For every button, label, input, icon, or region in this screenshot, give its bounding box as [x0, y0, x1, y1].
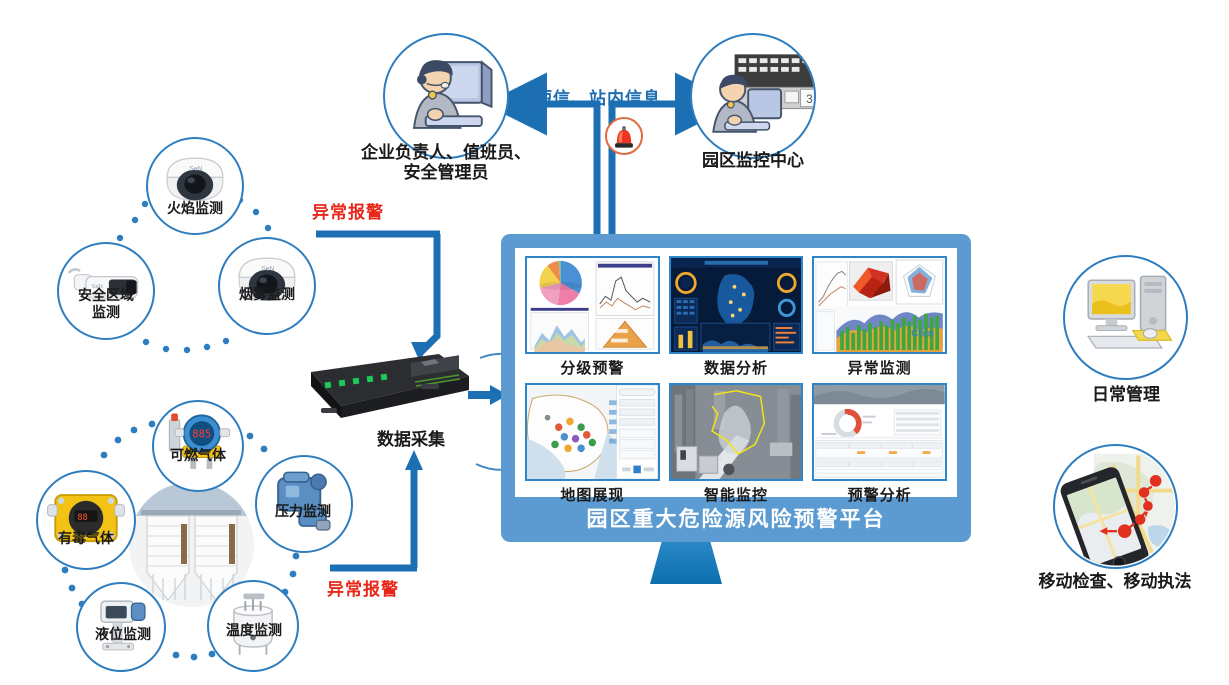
- dark-blue-map-dashboard: [669, 256, 804, 354]
- platform-screen: 分级预警: [515, 248, 957, 497]
- combustible-gas-detector-icon: 885: [154, 402, 242, 490]
- svg-text:885: 885: [192, 428, 211, 440]
- svg-text:SeN: SeN: [189, 166, 202, 173]
- thumb-caption-anomaly-monitoring: 异常监测: [848, 354, 912, 382]
- svg-text:3: 3: [806, 93, 812, 106]
- thumb-cell-map-display[interactable]: 地图展现: [525, 383, 660, 509]
- dome-camera-icon: SeN: [148, 139, 242, 233]
- surface-radar-dashboard: Chin: [812, 256, 947, 354]
- china-map-console: [525, 383, 660, 481]
- node-temperature-monitor[interactable]: [207, 580, 299, 672]
- dome-camera-icon: SeN: [220, 239, 314, 333]
- thumb-caption-data-analysis: 数据分析: [704, 354, 768, 382]
- level-meter-icon: [78, 584, 164, 670]
- diagram-canvas: 企业负责人、值班员、 安全管理员 3: [0, 0, 1229, 685]
- bullet-camera-icon: SeN: [59, 244, 153, 338]
- arrow-to-managers: [540, 104, 597, 240]
- svg-text:Chin: Chin: [911, 329, 934, 340]
- control-room-icon: 3: [692, 35, 814, 157]
- alarm-label-sensors: 异常报警: [327, 575, 399, 600]
- channel-label: 短信、站内信息: [535, 84, 661, 109]
- node-mobile-inspection[interactable]: [1053, 444, 1178, 569]
- node-daily-management[interactable]: [1063, 255, 1188, 380]
- node-managers[interactable]: [383, 33, 509, 159]
- alarm-beacon-icon: [605, 117, 643, 155]
- thumb-cell-smart-monitoring[interactable]: 智能监控: [669, 383, 804, 509]
- operator-at-desk-icon: [385, 35, 507, 157]
- platform-monitor: 分级预警: [501, 234, 971, 542]
- mobile-map-phone-icon: [1055, 446, 1176, 567]
- report-table-dashboard: [812, 383, 947, 481]
- alarm-label-cameras: 异常报警: [312, 198, 384, 223]
- platform-thumbnail-grid: 分级预警: [525, 256, 947, 509]
- thumb-cell-warning-analysis[interactable]: 预警分析: [812, 383, 947, 509]
- monitor-stand: [650, 542, 722, 584]
- thumb-cell-graded-warning[interactable]: 分级预警: [525, 256, 660, 382]
- thumb-caption-graded-warning: 分级预警: [560, 354, 624, 382]
- thumb-cell-data-analysis[interactable]: 数据分析: [669, 256, 804, 382]
- gateway-ring: [330, 352, 510, 472]
- toxic-gas-detector-icon: 88: [38, 472, 134, 568]
- node-level-monitor[interactable]: [76, 582, 166, 672]
- node-toxic-gas[interactable]: 88: [36, 470, 136, 570]
- video-ai-detection: [669, 383, 804, 481]
- node-flame-detection[interactable]: SeN: [146, 137, 244, 235]
- bi-charts-dashboard: [525, 256, 660, 354]
- svg-text:88: 88: [77, 513, 87, 523]
- node-smoke-detection[interactable]: SeN: [218, 237, 316, 335]
- temperature-sensor-icon: [209, 582, 297, 670]
- node-control-center[interactable]: 3: [690, 33, 816, 159]
- svg-text:SeN: SeN: [92, 284, 103, 290]
- node-safe-area-detection[interactable]: SeN: [57, 242, 155, 340]
- thumb-cell-anomaly-monitoring[interactable]: Chin 异常监测: [812, 256, 947, 382]
- svg-text:SeN: SeN: [261, 266, 274, 273]
- node-combustible-gas[interactable]: 885: [152, 400, 244, 492]
- arrow-cameras-to-gateway: [421, 234, 437, 352]
- desktop-computer-icon: [1065, 257, 1186, 378]
